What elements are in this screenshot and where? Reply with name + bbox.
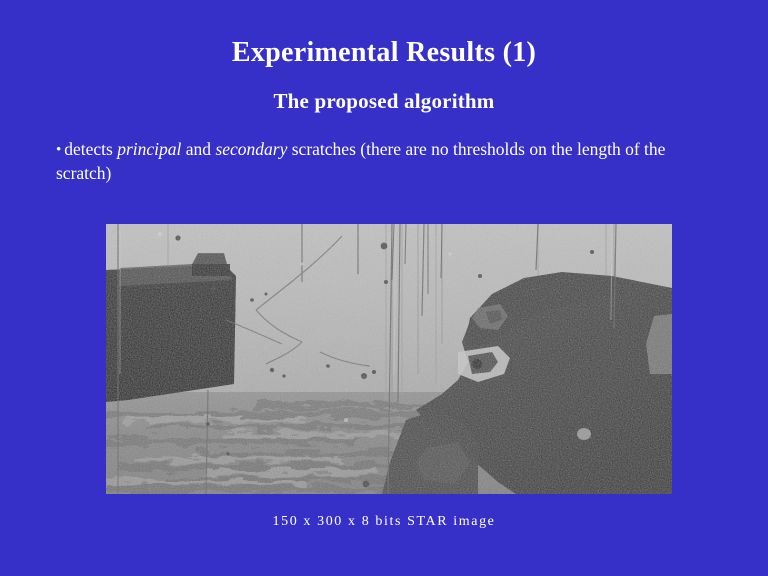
- figure-image: [106, 224, 672, 494]
- slide-canvas: Experimental Results (1) The proposed al…: [0, 0, 768, 576]
- bullet-list: •detects principal and secondary scratch…: [56, 138, 704, 185]
- bullet-text-part-2: and: [181, 139, 215, 159]
- bullet-emphasis-secondary: secondary: [215, 139, 287, 159]
- bullet-emphasis-principal: principal: [117, 139, 181, 159]
- figure-caption: 150 x 300 x 8 bits STAR image: [0, 512, 768, 532]
- page-title: Experimental Results (1): [0, 36, 768, 70]
- bullet-point-icon: •: [56, 142, 61, 158]
- slide-subtitle: The proposed algorithm: [0, 88, 768, 114]
- bullet-text-part-1: detects: [64, 139, 117, 159]
- list-item: •detects principal and secondary scratch…: [56, 138, 704, 185]
- star-image-graphic: [106, 224, 672, 494]
